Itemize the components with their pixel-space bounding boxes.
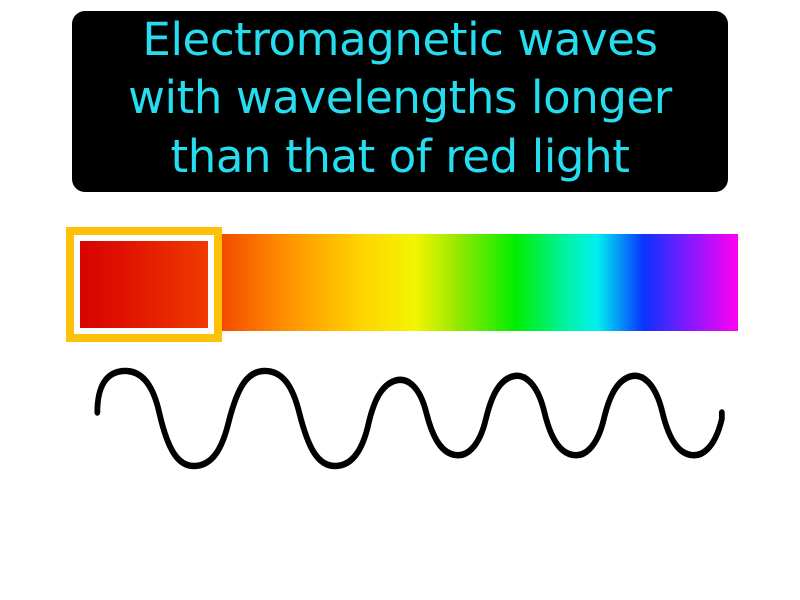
red-band-highlight-box[interactable] — [66, 227, 222, 342]
wave-illustration — [80, 358, 740, 478]
definition-banner: Electromagnetic waves with wavelengths l… — [72, 11, 728, 192]
chirped-wave-path — [97, 371, 722, 466]
wave-svg — [80, 358, 740, 478]
definition-text: Electromagnetic waves with wavelengths l… — [128, 11, 672, 187]
definition-card: Electromagnetic waves with wavelengths l… — [0, 0, 800, 600]
